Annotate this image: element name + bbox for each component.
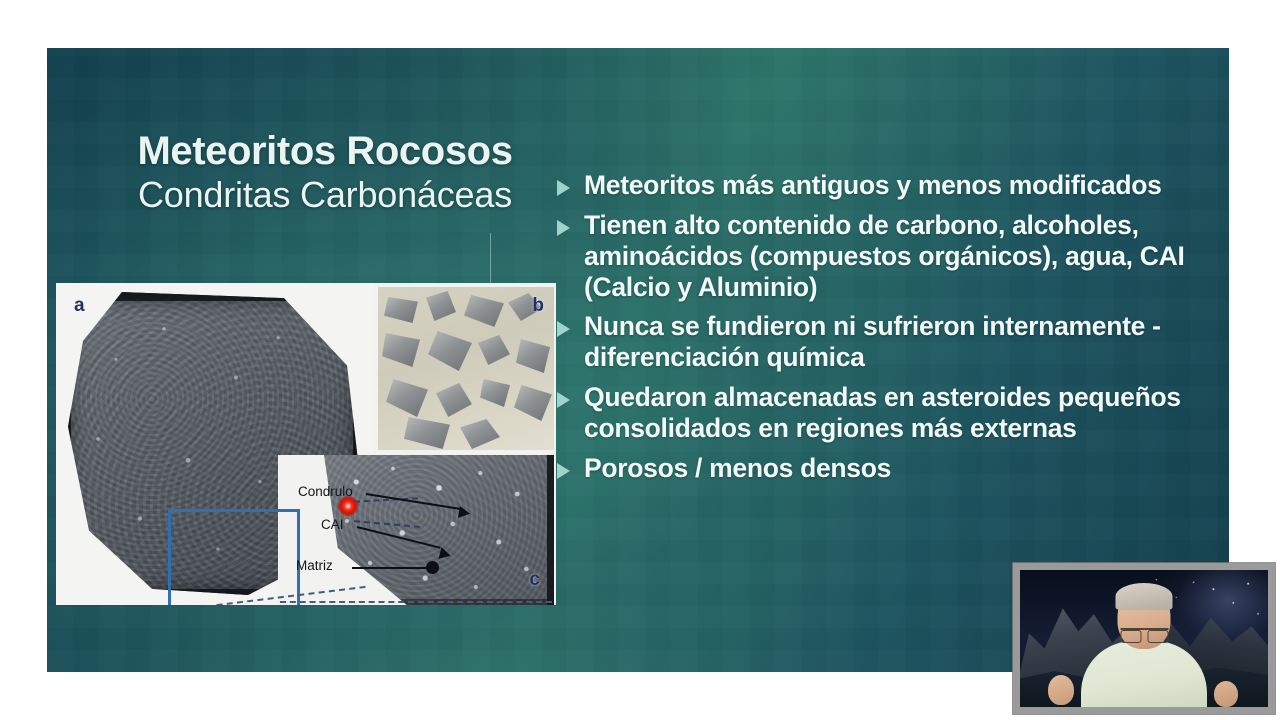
bullet-text: Porosos / menos densos	[584, 453, 891, 484]
glasses-icon	[1120, 628, 1168, 640]
bullet-text: Tienen alto contenido de carbono, alcoho…	[584, 210, 1207, 303]
bullet-item: Meteoritos más antiguos y menos modifica…	[557, 170, 1207, 201]
figure-panel-c: Condrulo CAI Matriz c	[278, 455, 554, 605]
callout-dot-matriz	[426, 561, 439, 574]
slide-title-subtitle: Condritas Carbonáceas	[95, 174, 555, 215]
callout-label-cai: CAI	[321, 517, 344, 532]
panel-c-bottom-dash	[280, 601, 552, 603]
bullet-text: Meteoritos más antiguos y menos modifica…	[584, 170, 1162, 201]
panel-letter-a: a	[74, 295, 85, 317]
triangle-right-icon	[557, 392, 570, 408]
bullet-item: Porosos / menos densos	[557, 453, 1207, 484]
bullet-item: Quedaron almacenadas en asteroides peque…	[557, 382, 1207, 444]
screen-root: Meteoritos Rocosos Condritas Carbonáceas…	[0, 0, 1280, 720]
callout-leader-matriz	[352, 567, 428, 569]
callout-label-matriz: Matriz	[296, 558, 333, 573]
bullet-list: Meteoritos más antiguos y menos modifica…	[557, 170, 1207, 493]
callout-arrowhead-condrulo	[458, 506, 471, 520]
laser-pointer-dot	[338, 496, 358, 516]
triangle-right-icon	[557, 463, 570, 479]
presenter-hand-right	[1214, 681, 1238, 707]
bullet-item: Nunca se fundieron ni sufrieron internam…	[557, 311, 1207, 373]
meteorite-closeup-edge	[324, 455, 554, 605]
bullet-text: Quedaron almacenadas en asteroides peque…	[584, 382, 1207, 444]
region-of-interest-box	[168, 509, 300, 605]
panel-letter-c: c	[529, 569, 540, 591]
triangle-right-icon	[557, 180, 570, 196]
panel-letter-b: b	[532, 295, 544, 317]
presenter-webcam-overlay[interactable]	[1013, 563, 1275, 714]
bullet-text: Nunca se fundieron ni sufrieron internam…	[584, 311, 1207, 373]
triangle-right-icon	[557, 220, 570, 236]
figure-panel-b: b	[378, 287, 554, 450]
triangle-right-icon	[557, 321, 570, 337]
meteorite-figure: a b	[56, 283, 556, 605]
webcam-video-feed[interactable]	[1020, 570, 1268, 707]
slide-title-block: Meteoritos Rocosos Condritas Carbonáceas	[95, 130, 555, 215]
presenter-hair	[1116, 583, 1173, 610]
callout-label-condrulo: Condrulo	[298, 484, 353, 499]
presenter-hand-left	[1048, 675, 1074, 705]
slide-title-main: Meteoritos Rocosos	[95, 130, 555, 172]
bullet-item: Tienen alto contenido de carbono, alcoho…	[557, 210, 1207, 303]
